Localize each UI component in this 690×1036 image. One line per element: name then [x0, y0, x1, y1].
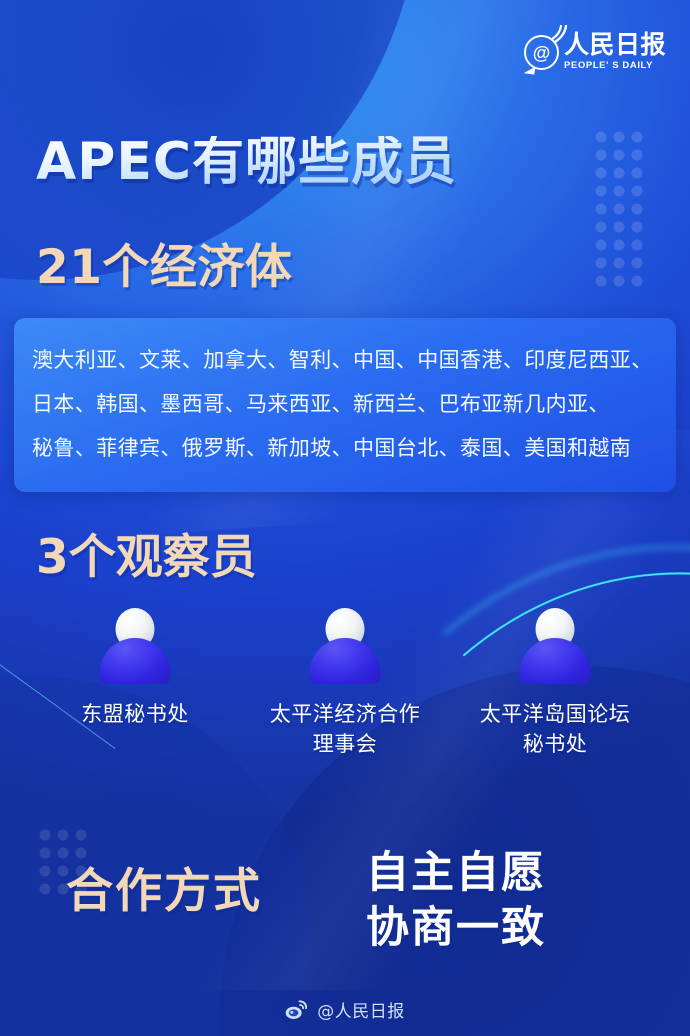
- footer-handle: @人民日报: [317, 997, 405, 1022]
- logo-chinese-name: 人民日报: [564, 32, 666, 57]
- footer-credit: @人民日报: [0, 997, 690, 1022]
- logo-english-name: PEOPLE' S DAILY: [564, 61, 666, 71]
- page-title: APEC有哪些成员: [36, 136, 457, 188]
- person-icon: [519, 608, 591, 684]
- member-list-panel: 澳大利亚、文莱、加拿大、智利、中国、中国香港、印度尼西亚、 日本、韩国、墨西哥、…: [14, 318, 676, 492]
- observer-label: 东盟秘书处: [81, 699, 189, 729]
- observer-item: 太平洋经济合作理事会: [240, 608, 450, 759]
- person-icon: [99, 608, 171, 684]
- decor-arc-cyan-bottom-glow: [258, 508, 690, 1036]
- weibo-icon: [285, 1000, 308, 1020]
- observer-item: 东盟秘书处: [30, 608, 240, 759]
- cooperation-value: 自主自愿: [366, 852, 546, 895]
- at-symbol-icon: @: [524, 35, 559, 70]
- members-heading: 21个经济体: [36, 244, 292, 291]
- member-line: 秘鲁、菲律宾、俄罗斯、新加坡、中国台北、泰国、美国和越南: [32, 426, 658, 470]
- observer-label: 太平洋经济合作理事会: [270, 699, 421, 759]
- observers-heading: 3个观察员: [36, 534, 257, 581]
- cooperation-value: 协商一致: [366, 907, 546, 950]
- cooperation-label: 合作方式: [66, 868, 262, 915]
- member-line: 日本、韩国、墨西哥、马来西亚、新西兰、巴布亚新几内亚、: [32, 382, 658, 426]
- person-body-shape: [100, 638, 171, 684]
- decor-dot-grid-right: [592, 128, 646, 288]
- peoples-daily-logo: @ 人民日报 PEOPLE' S DAILY: [524, 32, 666, 71]
- observers-row: 东盟秘书处 太平洋经济合作理事会 太平洋岛国论坛秘书处: [30, 608, 660, 759]
- person-body-shape: [310, 638, 381, 684]
- person-icon: [309, 608, 381, 684]
- apec-infographic-poster: @ 人民日报 PEOPLE' S DAILY APEC有哪些成员 21个经济体 …: [0, 0, 690, 1036]
- member-line: 澳大利亚、文莱、加拿大、智利、中国、中国香港、印度尼西亚、: [32, 338, 658, 382]
- logo-text-block: 人民日报 PEOPLE' S DAILY: [564, 32, 666, 71]
- signal-wave-icon: [552, 25, 570, 45]
- cooperation-values: 自主自愿 协商一致: [366, 852, 546, 950]
- observer-item: 太平洋岛国论坛秘书处: [450, 608, 660, 759]
- person-body-shape: [520, 638, 591, 684]
- at-glyph: @: [533, 44, 551, 62]
- observer-label: 太平洋岛国论坛秘书处: [480, 699, 631, 759]
